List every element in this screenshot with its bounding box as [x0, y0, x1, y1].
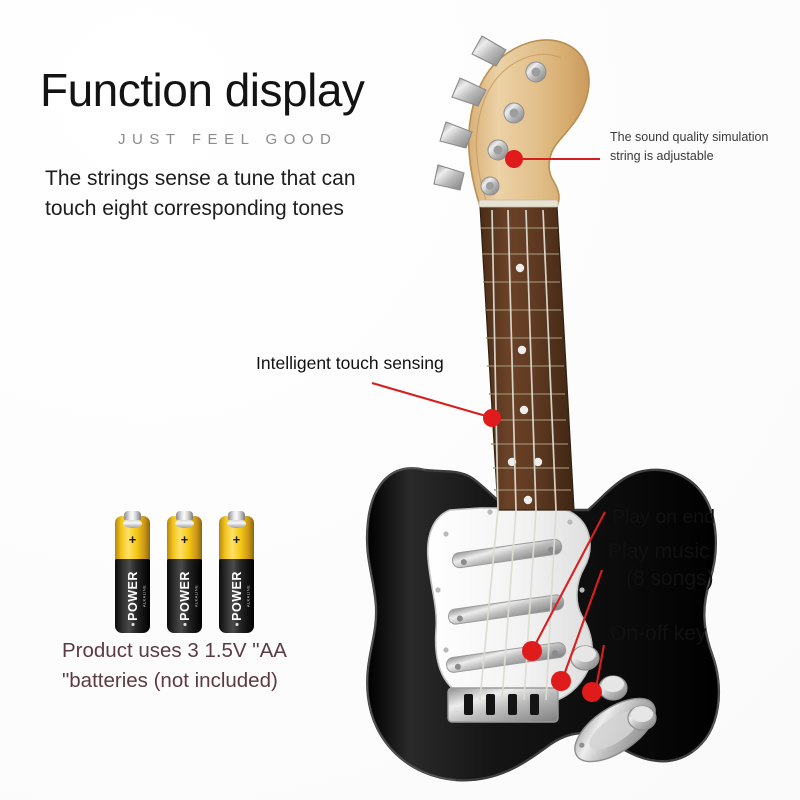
battery-mark-icon — [183, 623, 186, 626]
battery-group: + POWER ALKALINE + POWER ALKALINE + POWE… — [110, 503, 285, 638]
battery-caption-line-1: Product uses 3 1.5V "AA — [62, 639, 287, 662]
knob-on-off[interactable] — [628, 706, 656, 730]
battery-terminal-icon — [124, 511, 141, 520]
battery-caption-line-2: "batteries (not included) — [62, 669, 278, 692]
battery-terminal-icon — [176, 511, 193, 520]
battery-plus-icon: + — [167, 533, 202, 546]
battery-2: + POWER ALKALINE — [167, 511, 202, 633]
battery-brand-label: POWER — [178, 571, 192, 621]
battery-plus-icon: + — [219, 533, 254, 546]
lead-paragraph: The strings sense a tune that can touch … — [45, 164, 375, 224]
infographic-page: Function display JUST FEEL GOOD The stri… — [0, 0, 800, 800]
nut — [479, 200, 558, 207]
callout-play-music-line-1: Play music — [608, 540, 710, 563]
headstock — [434, 36, 589, 207]
battery-1: + POWER ALKALINE — [115, 511, 150, 633]
battery-barrel: POWER ALKALINE — [115, 559, 150, 633]
battery-plus-icon: + — [115, 533, 150, 546]
battery-barrel: POWER ALKALINE — [219, 559, 254, 633]
battery-sub-label: ALKALINE — [193, 585, 198, 607]
battery-mark-icon — [235, 623, 238, 626]
page-subtitle: JUST FEEL GOOD — [118, 131, 337, 148]
callout-touch-sensing: Intelligent touch sensing — [256, 352, 456, 375]
battery-terminal-icon — [228, 511, 245, 520]
battery-sub-label: ALKALINE — [245, 585, 250, 607]
battery-barrel: POWER ALKALINE — [167, 559, 202, 633]
pickguard — [428, 506, 593, 722]
battery-sub-label: ALKALINE — [141, 585, 146, 607]
battery-brand-label: POWER — [230, 571, 244, 621]
callout-on-off-key: On-off key — [610, 622, 707, 646]
callout-sound-quality: The sound quality simulation string is a… — [610, 128, 790, 166]
battery-mark-icon — [131, 623, 134, 626]
callout-play-music: Play music (8 songs) — [608, 538, 714, 593]
battery-3: + POWER ALKALINE — [219, 511, 254, 633]
knob-play-music[interactable] — [599, 676, 627, 700]
callout-play-on-end: Play on end — [612, 506, 715, 529]
knob-play-on-end[interactable] — [571, 646, 599, 670]
battery-brand-label: POWER — [126, 571, 140, 621]
callout-play-music-line-2: (8 songs) — [608, 565, 714, 592]
page-title: Function display — [40, 66, 364, 114]
